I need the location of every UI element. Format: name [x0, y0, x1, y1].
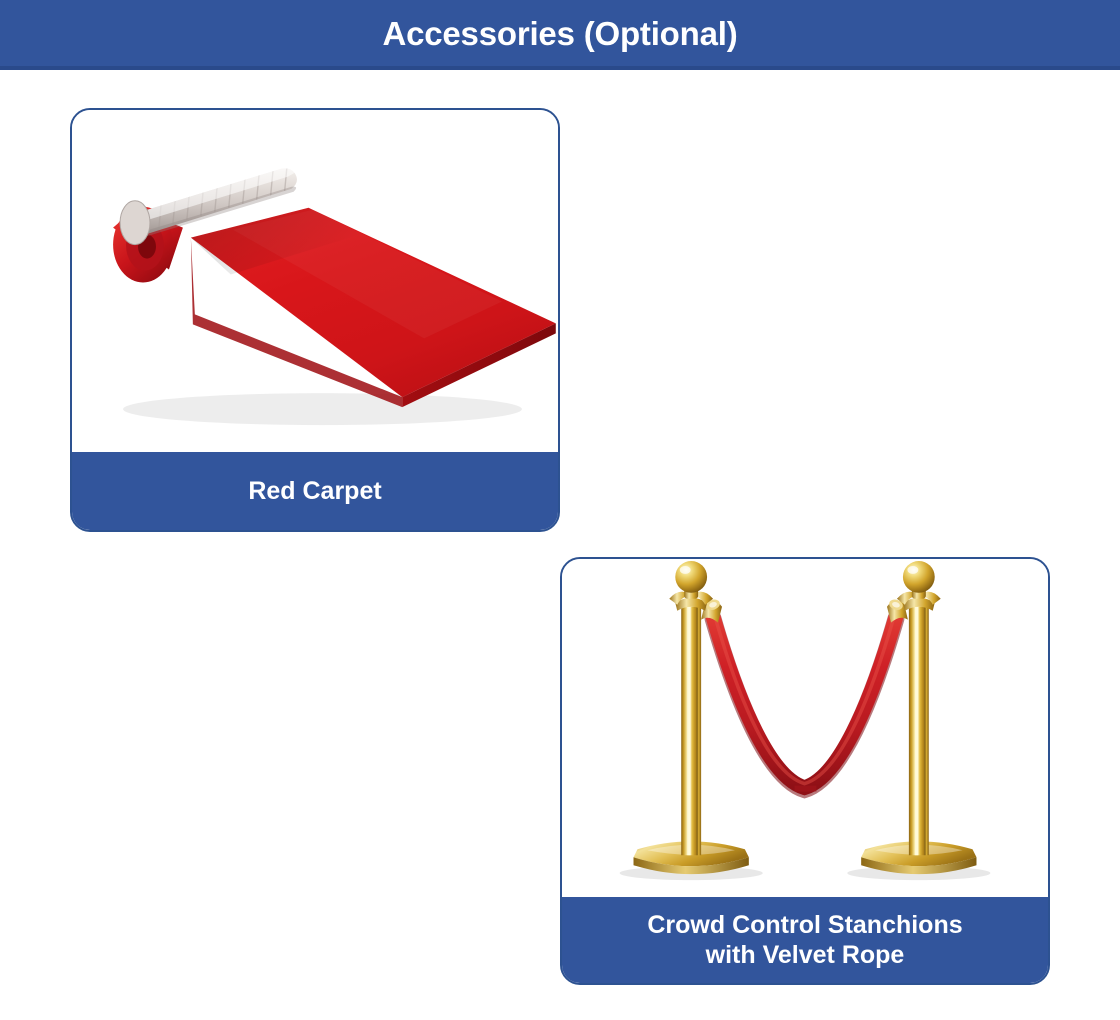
red-carpet-roll-icon	[72, 110, 558, 452]
right-pole-highlight	[915, 607, 918, 856]
stanchions-velvet-rope-icon	[562, 559, 1048, 897]
accessory-card-red-carpet[interactable]: Red Carpet	[70, 108, 560, 532]
rope-stroke	[713, 617, 896, 788]
stanchion-left	[634, 561, 749, 874]
stanchions-image-area	[562, 559, 1048, 897]
rope-highlight	[715, 617, 894, 784]
accessory-card-stanchions[interactable]: Crowd Control Stanchions with Velvet Rop…	[560, 557, 1050, 985]
red-carpet-image-area	[72, 110, 558, 452]
stanchion-right	[861, 561, 976, 874]
card-label-stanchions-line1: Crowd Control Stanchions	[647, 911, 962, 939]
right-pole-shade	[924, 607, 926, 856]
right-ball-specular	[907, 566, 918, 574]
left-ball-finial	[675, 561, 707, 593]
card-label-stanchions: Crowd Control Stanchions with Velvet Rop…	[562, 897, 1048, 983]
card-label-stanchions-line2: with Velvet Rope	[706, 941, 905, 969]
velvet-rope	[701, 598, 908, 792]
left-pole-highlight	[687, 607, 690, 856]
right-ball-finial	[903, 561, 935, 593]
left-ball-specular	[680, 566, 691, 574]
page-title: Accessories (Optional)	[382, 17, 737, 50]
page-header-band: Accessories (Optional)	[0, 0, 1120, 70]
left-pole-shade	[696, 607, 698, 856]
card-label-red-carpet: Red Carpet	[72, 452, 558, 530]
rope-center-seam	[795, 786, 817, 792]
